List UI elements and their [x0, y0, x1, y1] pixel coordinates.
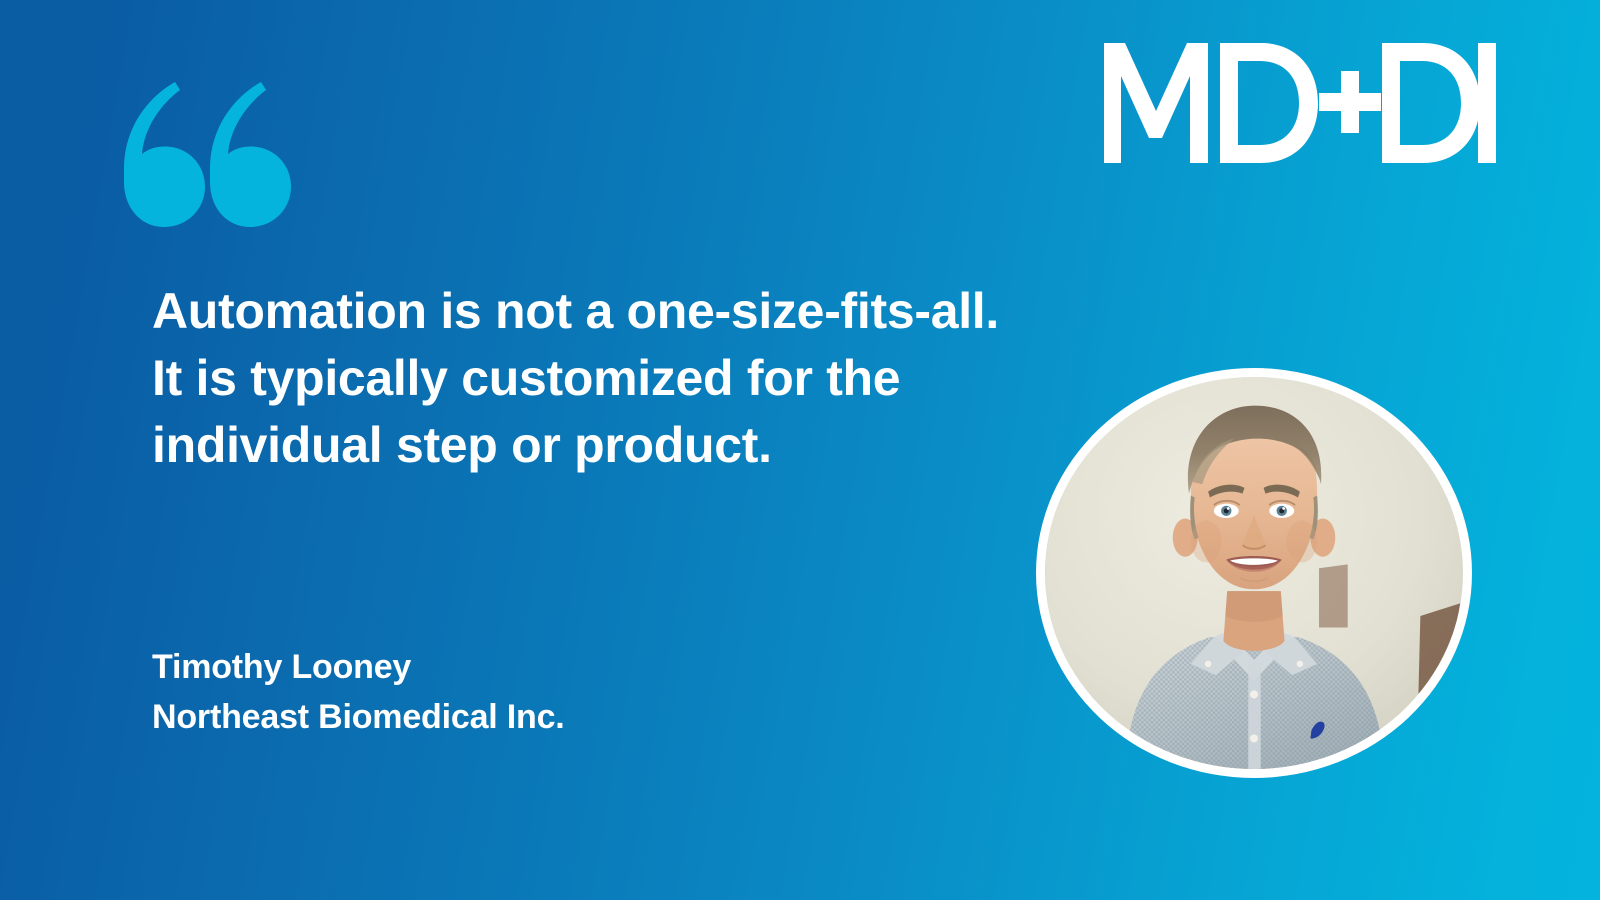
quote-text: Automation is not a one-size-fits-all. I… [152, 278, 1032, 479]
open-quote-icon [76, 78, 291, 253]
portrait-avatar [1036, 368, 1472, 778]
attribution-name: Timothy Looney [152, 642, 565, 692]
quote-card: Automation is not a one-size-fits-all. I… [0, 0, 1600, 900]
attribution: Timothy Looney Northeast Biomedical Inc. [152, 642, 565, 742]
mddi-logo [1104, 43, 1496, 163]
attribution-company: Northeast Biomedical Inc. [152, 692, 565, 742]
